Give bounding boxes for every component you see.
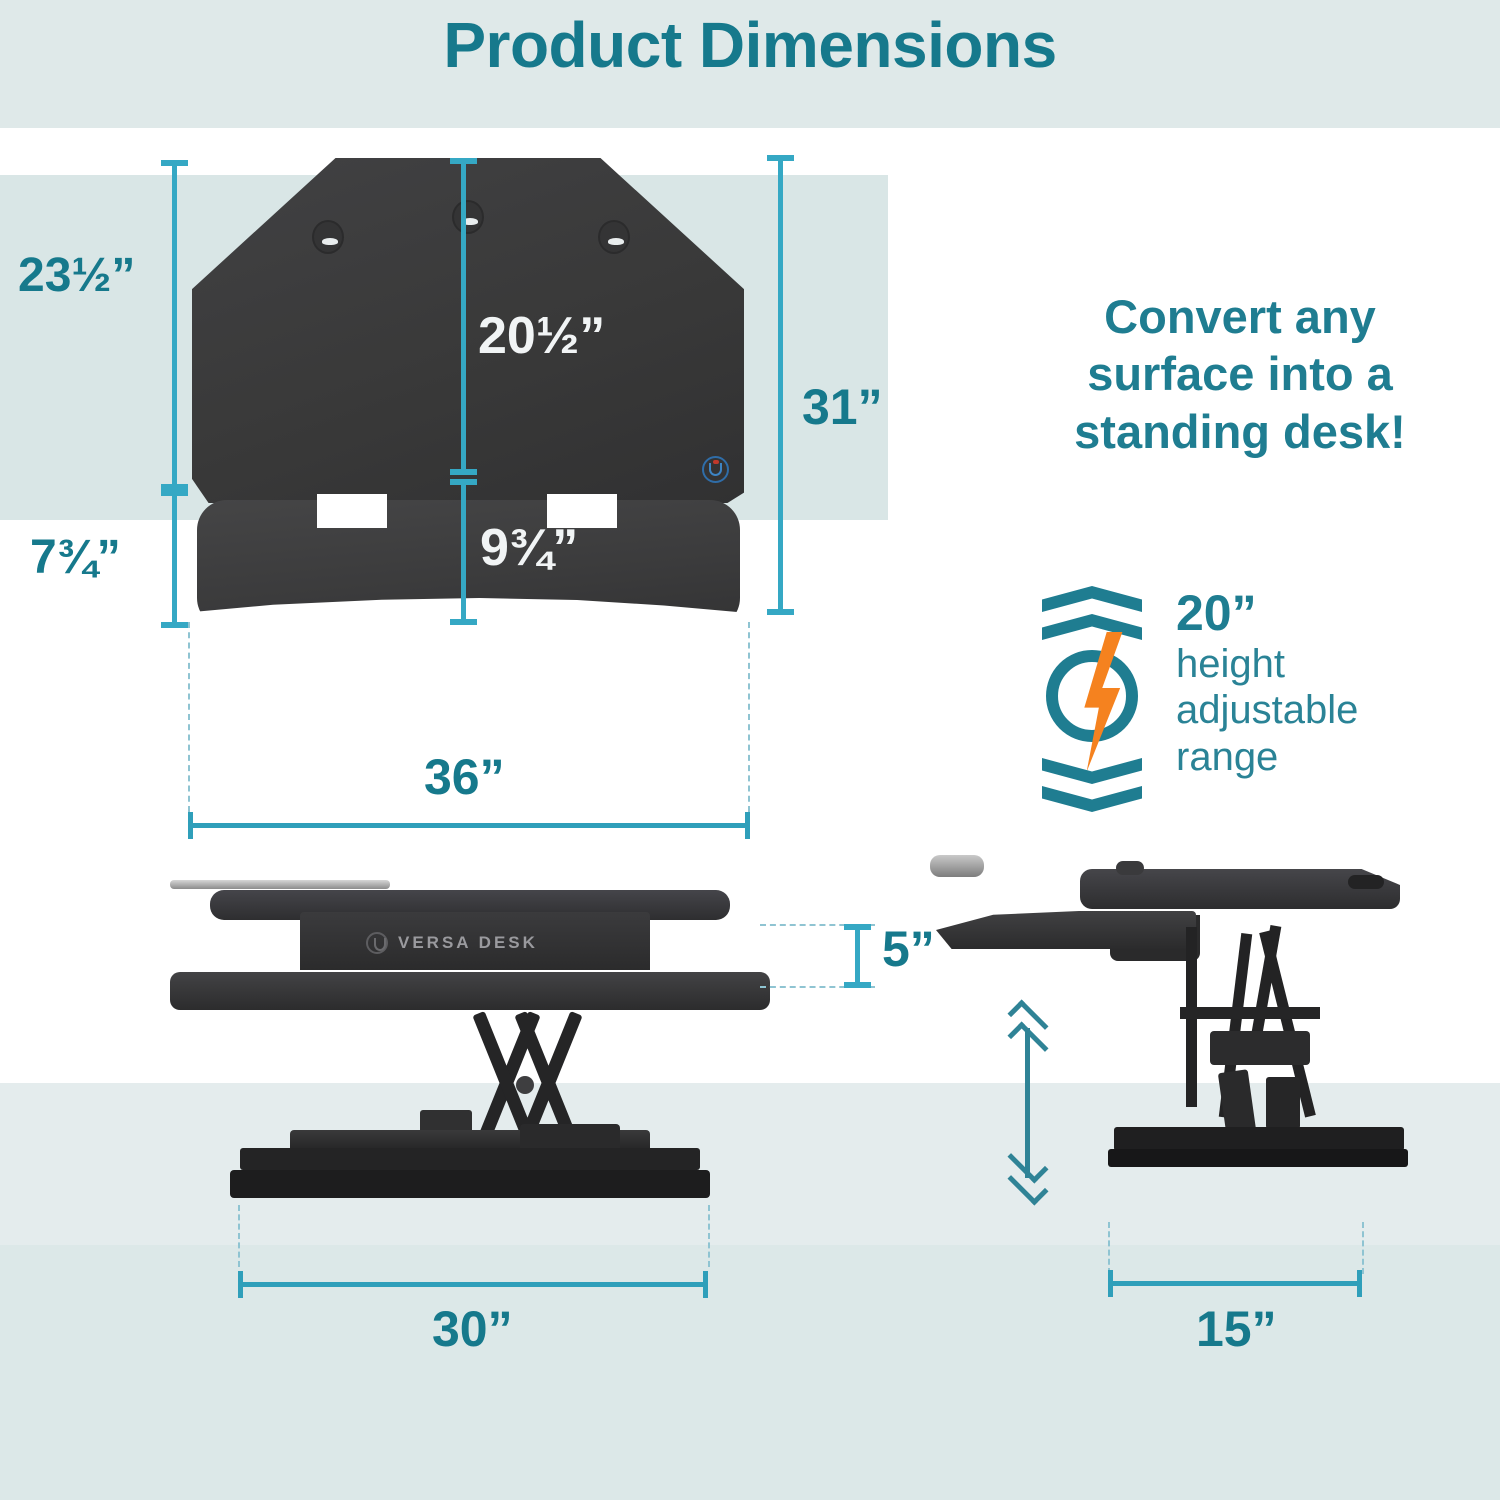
dimension-label-base-depth: 15”: [1196, 1300, 1277, 1358]
extension-line-base-left: [238, 1205, 240, 1267]
height-range-arrow-icon: [1000, 1010, 1056, 1195]
dimension-line-base-width: [238, 1282, 708, 1287]
dimension-label-base-width: 30”: [432, 1300, 513, 1358]
height-range-value: 20”: [1176, 588, 1448, 639]
grommet-hole-center: [452, 200, 484, 234]
height-range-description: height adjustable range: [1176, 641, 1448, 780]
extension-line-width-right: [748, 622, 750, 812]
page-title: Product Dimensions: [0, 8, 1500, 82]
extension-line-depth-left: [1108, 1222, 1110, 1274]
extension-line-width-left: [188, 622, 190, 812]
front-elevation-view: VERSA DESK: [170, 880, 770, 1240]
dimension-label-collapsed-height: 5”: [882, 920, 935, 978]
brand-name: VERSA DESK: [398, 933, 538, 953]
keyboard-tray-top-view: [197, 500, 740, 628]
dimension-line-collapsed-height: [855, 924, 860, 988]
dimension-line-desktop-depth: [461, 158, 466, 475]
extension-line-depth-right: [1362, 1222, 1364, 1274]
dimension-line-tray-depth: [461, 479, 466, 625]
infographic-canvas: Product Dimensions 23½” 7¾” 20½” 9¾” 31”…: [0, 0, 1500, 1500]
versadesk-brand-logo: VERSA DESK: [366, 930, 596, 956]
dimension-line-overall-depth: [172, 160, 177, 490]
dimension-label-tray-depth: 9¾”: [480, 518, 578, 578]
dimension-label-overall-width: 36”: [424, 748, 505, 806]
dimension-label-keyboard-tray-depth: 7¾”: [30, 530, 121, 585]
grommet-hole-left: [312, 220, 344, 254]
dimension-label-right-depth: 31”: [802, 378, 883, 436]
dimension-line-keyboard-tray-depth: [172, 490, 177, 628]
versadesk-logo-icon: [702, 456, 729, 483]
grommet-hole-right: [598, 220, 630, 254]
dimension-line-overall-width: [188, 823, 750, 828]
extension-line-base-right: [708, 1205, 710, 1267]
height-range-feature: 20” height adjustable range: [1028, 584, 1448, 814]
tagline-text: Convert any surface into a standing desk…: [1030, 288, 1450, 460]
versadesk-mark-icon: [366, 932, 388, 954]
dimension-label-overall-depth: 23½”: [18, 248, 135, 303]
dimension-line-right-depth: [778, 155, 783, 615]
height-range-bolt-icon: [1028, 584, 1156, 814]
dimension-label-desktop-depth: 20½”: [478, 306, 605, 366]
dimension-line-base-depth: [1108, 1281, 1362, 1286]
